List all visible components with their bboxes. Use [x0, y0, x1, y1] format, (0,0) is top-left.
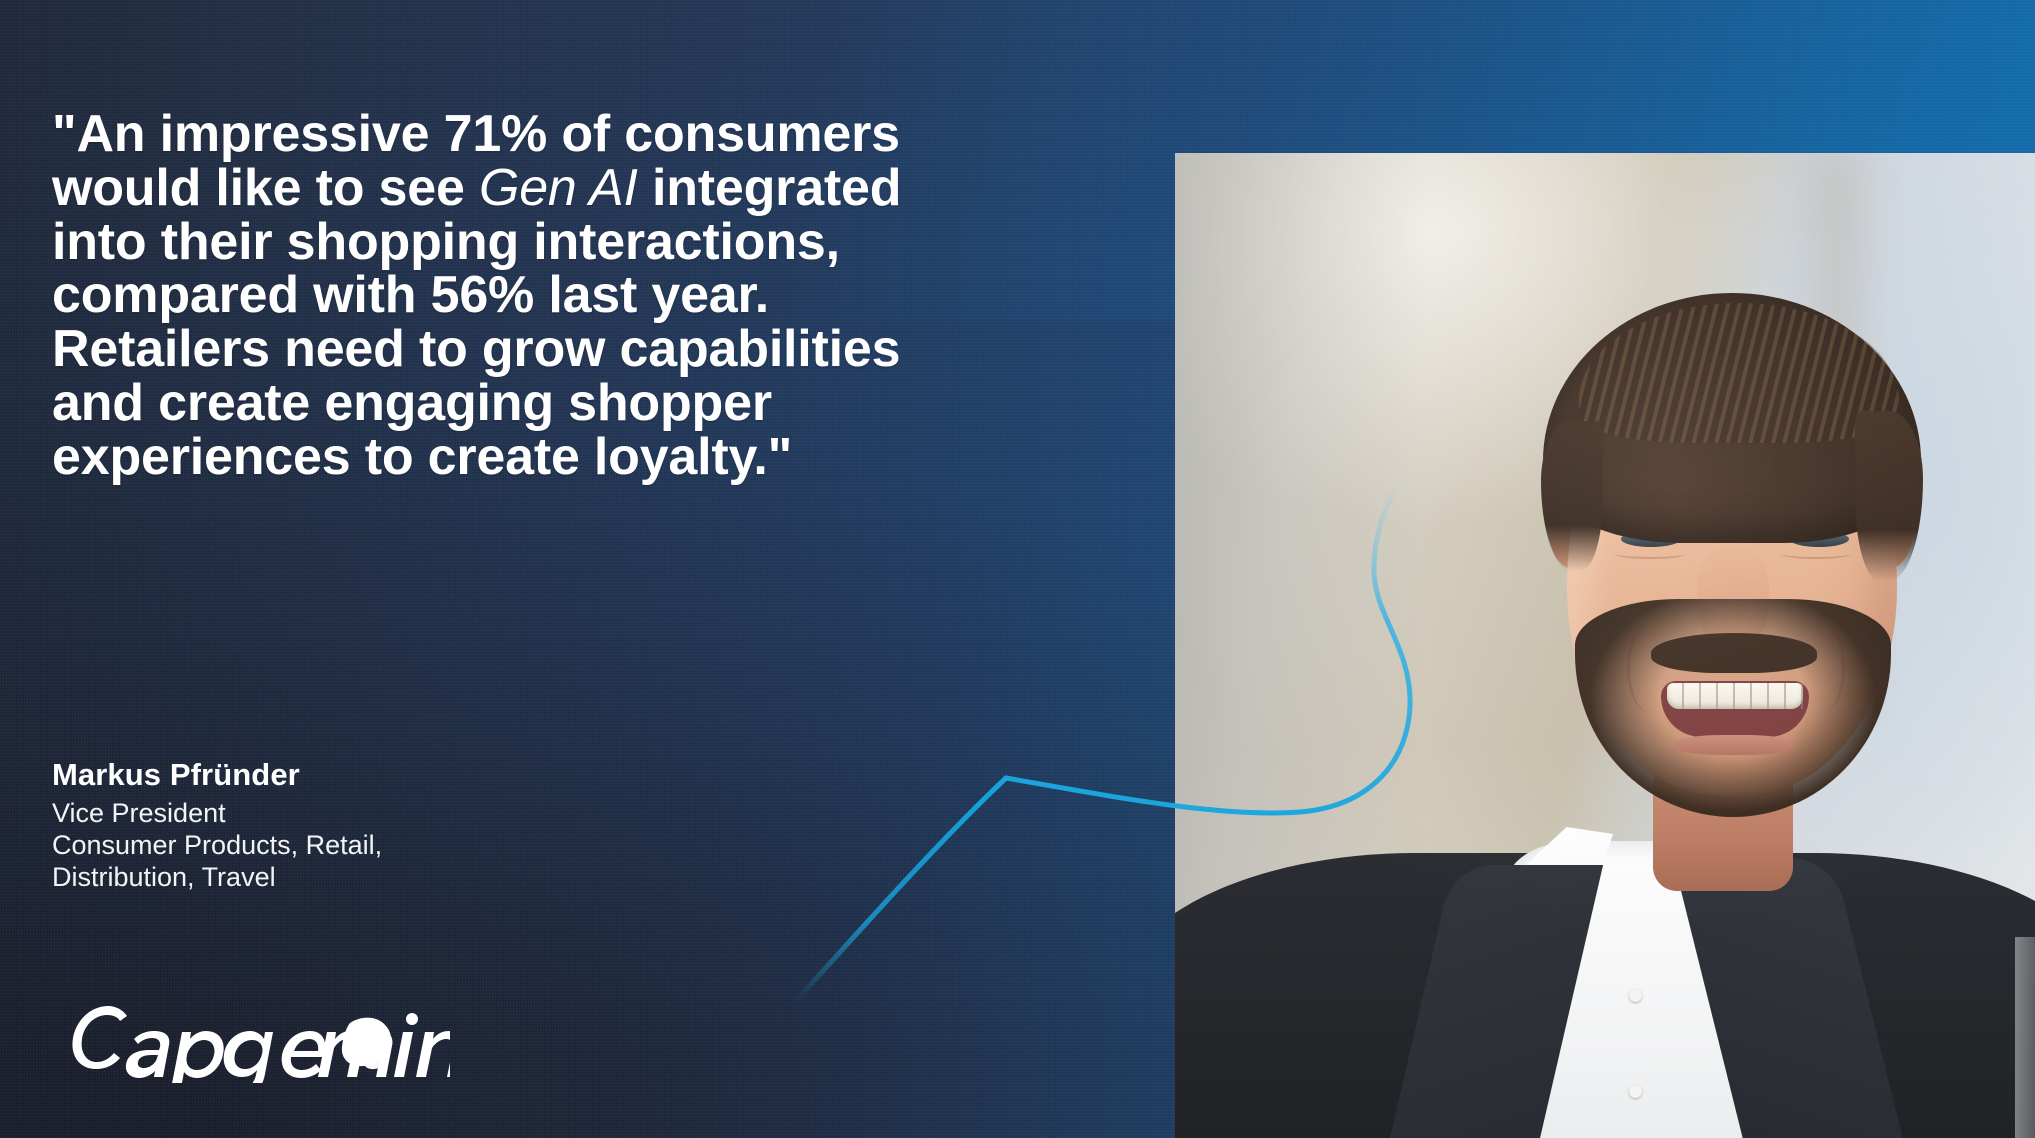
capgemini-logo — [50, 993, 450, 1083]
attribution-role-line-3: Distribution, Travel — [52, 862, 382, 894]
attribution-role-line-1: Vice President — [52, 798, 382, 830]
quote-emphasis-gen-ai: Gen AI — [479, 159, 638, 217]
capgemini-wordmark — [72, 1006, 450, 1083]
eye-crinkle-right — [1781, 549, 1851, 559]
shirt-placket — [2015, 937, 2035, 1138]
capgemini-logo-svg — [50, 993, 450, 1083]
moustache — [1651, 633, 1817, 673]
attribution-role: Vice President Consumer Products, Retail… — [52, 798, 382, 894]
pull-quote: "An impressive 71% of consumers would li… — [52, 108, 912, 485]
attribution-name: Markus Pfründer — [52, 757, 300, 793]
lower-lip — [1675, 735, 1793, 755]
mouth — [1661, 681, 1809, 737]
capgemini-spot-icon — [342, 1018, 391, 1069]
person-figure — [1175, 153, 2035, 1138]
hair-sideburn-left — [1541, 421, 1603, 571]
eye-crinkle-left — [1615, 549, 1685, 559]
portrait-photo — [1175, 153, 2035, 1138]
shirt-button — [1629, 1085, 1642, 1098]
hair-sideburn-right — [1855, 411, 1923, 581]
quote-card: "An impressive 71% of consumers would li… — [0, 0, 2035, 1138]
suit-jacket — [1175, 793, 2035, 1138]
teeth — [1667, 683, 1803, 709]
attribution-role-line-2: Consumer Products, Retail, — [52, 830, 382, 862]
shirt-button — [1629, 989, 1642, 1002]
